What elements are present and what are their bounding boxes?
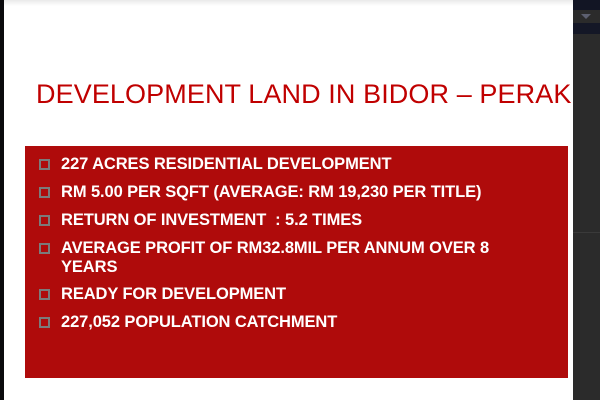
scroll-rail-top [573,0,600,10]
scroll-rail-band [573,23,600,34]
hollow-square-bullet-icon [39,317,50,328]
list-item: RM 5.00 PER SQFT (AVERAGE: RM 19,230 PER… [25,183,568,203]
list-item-label: READY FOR DEVELOPMENT [61,285,568,304]
hollow-square-bullet-icon [39,159,50,170]
list-item-label: 227,052 POPULATION CATCHMENT [61,313,568,332]
list-item: AVERAGE PROFIT OF RM32.8MIL PER ANNUM OV… [25,239,568,277]
bullet-list: 227 ACRES RESIDENTIAL DEVELOPMENT RM 5.0… [25,155,568,341]
top-edge-shading [4,0,573,6]
list-item: 227 ACRES RESIDENTIAL DEVELOPMENT [25,155,568,175]
list-item-label: 227 ACRES RESIDENTIAL DEVELOPMENT [61,155,568,174]
list-item-label: RM 5.00 PER SQFT (AVERAGE: RM 19,230 PER… [61,183,568,202]
scroll-rail-seam [573,232,600,233]
chevron-down-icon[interactable] [581,14,591,19]
list-item: RETURN OF INVESTMENT : 5.2 TIMES [25,211,568,231]
page-title: DEVELOPMENT LAND IN BIDOR – PERAK [36,80,556,110]
list-item-label: AVERAGE PROFIT OF RM32.8MIL PER ANNUM OV… [61,239,531,277]
highlights-content-box: 227 ACRES RESIDENTIAL DEVELOPMENT RM 5.0… [25,146,568,378]
slide-canvas: DEVELOPMENT LAND IN BIDOR – PERAK 227 AC… [4,6,573,400]
list-item-label: RETURN OF INVESTMENT : 5.2 TIMES [61,211,568,230]
hollow-square-bullet-icon [39,215,50,226]
hollow-square-bullet-icon [39,187,50,198]
list-item: READY FOR DEVELOPMENT [25,285,568,305]
right-scroll-panel[interactable] [573,0,600,400]
left-edge-bar [0,0,4,400]
slide-viewer: DEVELOPMENT LAND IN BIDOR – PERAK 227 AC… [0,0,600,400]
hollow-square-bullet-icon [39,289,50,300]
hollow-square-bullet-icon [39,243,50,254]
list-item: 227,052 POPULATION CATCHMENT [25,313,568,333]
